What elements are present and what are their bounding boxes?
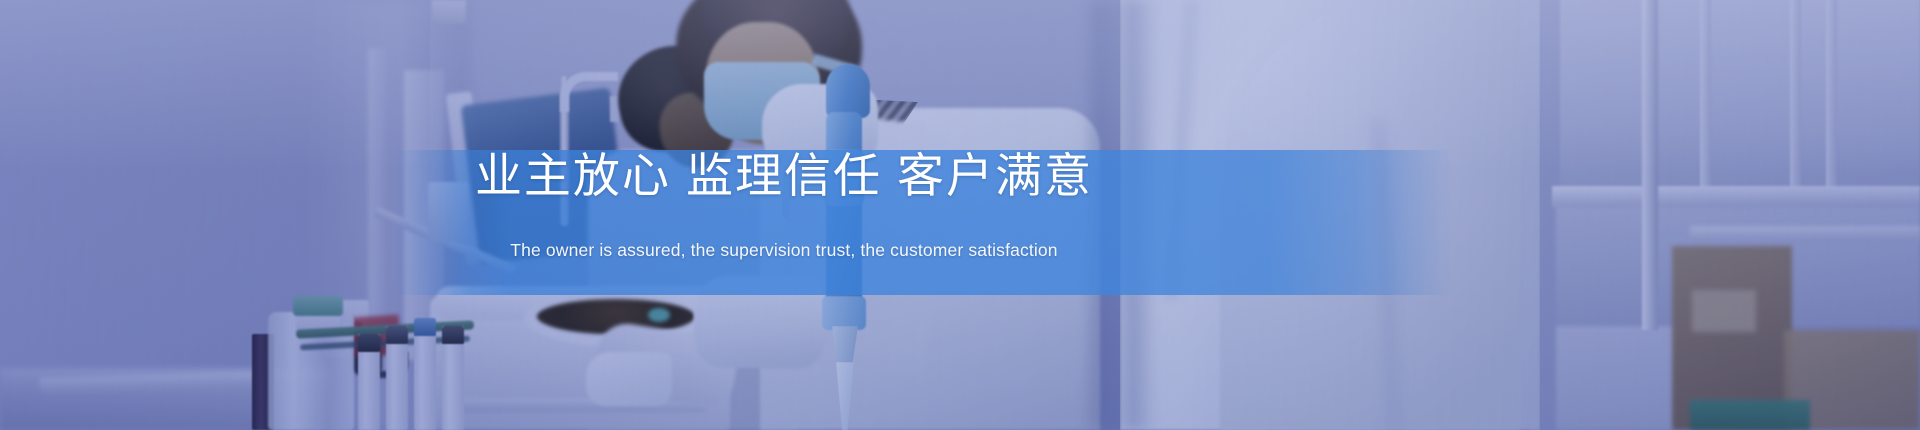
banner-headline: 业主放心 监理信任 客户满意 — [0, 152, 1568, 199]
hero-banner: 业主放心 监理信任 客户满意 The owner is assured, the… — [0, 0, 1920, 430]
banner-subheadline: The owner is assured, the supervision tr… — [0, 240, 1568, 261]
